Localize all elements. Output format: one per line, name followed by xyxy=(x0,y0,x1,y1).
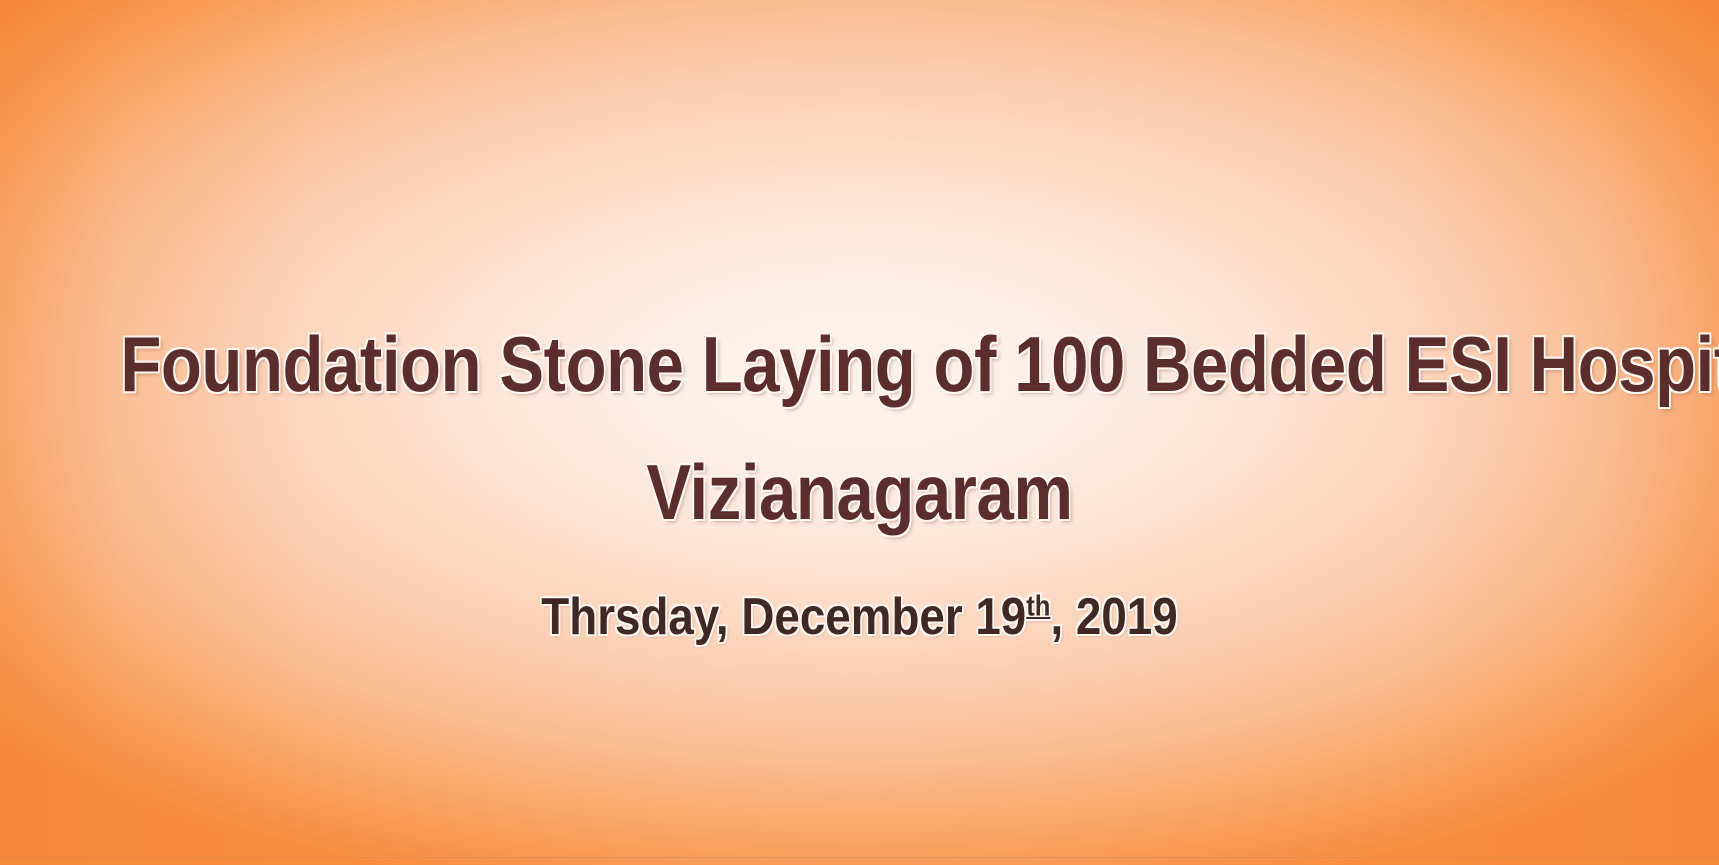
slide-date-prefix: Thrsday, December 19 xyxy=(541,588,1026,646)
slide-date-ordinal-suffix: th xyxy=(1026,591,1050,623)
slide-title-line-1: Foundation Stone Laying of 100 Bedded ES… xyxy=(120,300,1598,428)
slide-date: Thrsday, December 19th, 2019 xyxy=(103,586,1616,648)
presentation-slide: Foundation Stone Laying of 100 Bedded ES… xyxy=(0,0,1719,865)
slide-title-line-2: Vizianagaram xyxy=(120,428,1598,556)
title-block: Foundation Stone Laying of 100 Bedded ES… xyxy=(0,300,1719,648)
slide-date-suffix: , 2019 xyxy=(1050,588,1177,646)
slide-content: Foundation Stone Laying of 100 Bedded ES… xyxy=(0,0,1719,865)
